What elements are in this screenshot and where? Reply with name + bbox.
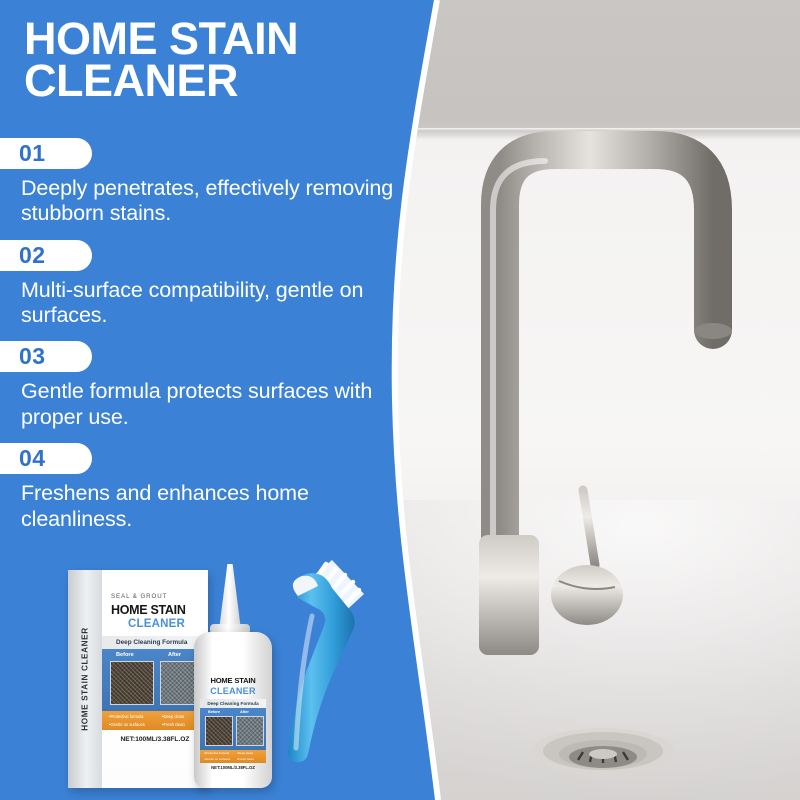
box-before-label: Before xyxy=(116,652,134,658)
box-eyebrow: SEAL & GROUT xyxy=(111,593,167,600)
box-after-label: After xyxy=(168,652,181,658)
box-bullet: Gentle on surfaces xyxy=(102,721,155,729)
feature-number-badge: 03 xyxy=(0,341,92,372)
feature-number-badge: 01 xyxy=(0,138,92,169)
box-formula-text: Deep Cleaning Formula xyxy=(116,639,187,646)
sink-drain-icon xyxy=(528,718,678,778)
box-bullet: Protective formula xyxy=(102,713,155,721)
feature-item: 03 Gentle formula protects surfaces with… xyxy=(0,341,420,430)
box-title-line-1: HOME STAIN xyxy=(111,603,186,617)
feature-number-badge: 04 xyxy=(0,443,92,474)
box-before-photo xyxy=(110,661,154,705)
box-spine-text: HOME STAIN CLEANER xyxy=(81,627,90,730)
bottle-nozzle-cap xyxy=(219,564,241,630)
feature-text: Gentle formula protects surfaces with pr… xyxy=(0,372,420,430)
box-spine: HOME STAIN CLEANER xyxy=(68,570,102,788)
feature-text: Deeply penetrates, effectively removing … xyxy=(0,169,420,227)
feature-item: 01 Deeply penetrates, effectively removi… xyxy=(0,138,420,227)
box-title-line-2: CLEANER xyxy=(128,618,185,630)
feature-text: Freshens and enhances home cleanliness. xyxy=(0,474,420,532)
headline-line-2: CLEANER xyxy=(24,60,396,102)
feature-list: 01 Deeply penetrates, effectively removi… xyxy=(0,138,420,545)
feature-item: 02 Multi-surface compatibility, gentle o… xyxy=(0,240,420,329)
bottle-after-label: After xyxy=(240,710,249,714)
feature-item: 04 Freshens and enhances home cleanlines… xyxy=(0,443,420,532)
cleaning-brush-icon xyxy=(254,558,384,764)
faucet-image xyxy=(455,95,785,655)
bottle-before-photo xyxy=(205,716,233,746)
product-group: HOME STAIN CLEANER SEAL & GROUT HOME STA… xyxy=(58,558,388,793)
feature-text: Multi-surface compatibility, gentle on s… xyxy=(0,271,420,329)
bottle-before-label: Before xyxy=(208,710,220,714)
page-title: HOME STAIN CLEANER xyxy=(24,18,396,103)
product-marketing-poster: HOME STAIN CLEANER 01 Deeply penetrates,… xyxy=(0,0,800,800)
feature-number-badge: 02 xyxy=(0,240,92,271)
bottle-bullet: Gentle on surfaces xyxy=(200,757,233,763)
bottle-net-content: NET:100ML/3.38FL.OZ xyxy=(200,765,266,770)
